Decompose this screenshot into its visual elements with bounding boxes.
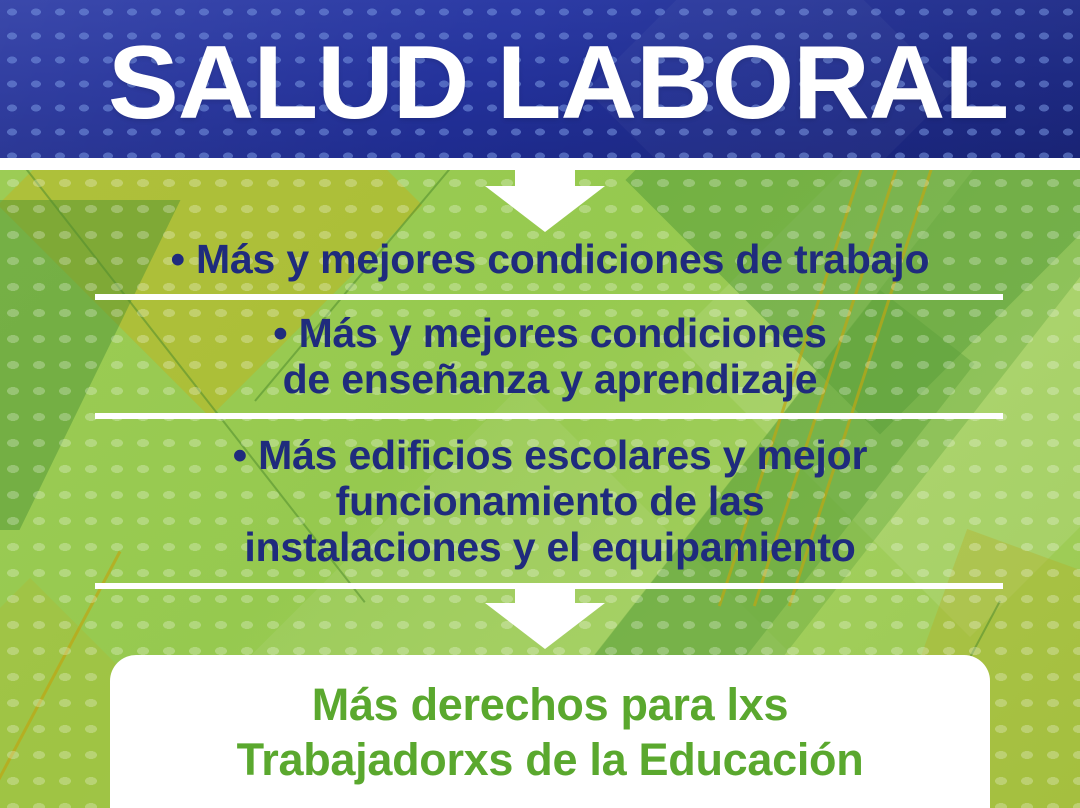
bullet-item-1: • Más y mejores condiciones de trabajo <box>70 236 1030 282</box>
conclusion-card: Más derechos para lxsTrabajadorxs de la … <box>110 655 990 808</box>
arrow-head <box>485 186 605 232</box>
content-stage: • Más y mejores condiciones de trabajo •… <box>0 170 1080 808</box>
poster: SALUD LABORAL • Más y mejores condicione… <box>0 0 1080 808</box>
down-arrow-icon-bottom <box>485 583 605 655</box>
conclusion-text: Más derechos para lxsTrabajadorxs de la … <box>110 677 990 787</box>
divider-line-2 <box>95 413 1003 419</box>
arrow-head <box>485 603 605 649</box>
page-title: SALUD LABORAL <box>108 24 1026 142</box>
divider-line-1 <box>95 294 1003 300</box>
down-arrow-icon-top <box>485 170 605 230</box>
header-divider-gap <box>0 158 1080 170</box>
bullet-item-3: • Más edificios escolares y mejorfuncion… <box>70 432 1030 570</box>
bullet-item-2: • Más y mejores condicionesde enseñanza … <box>70 310 1030 402</box>
